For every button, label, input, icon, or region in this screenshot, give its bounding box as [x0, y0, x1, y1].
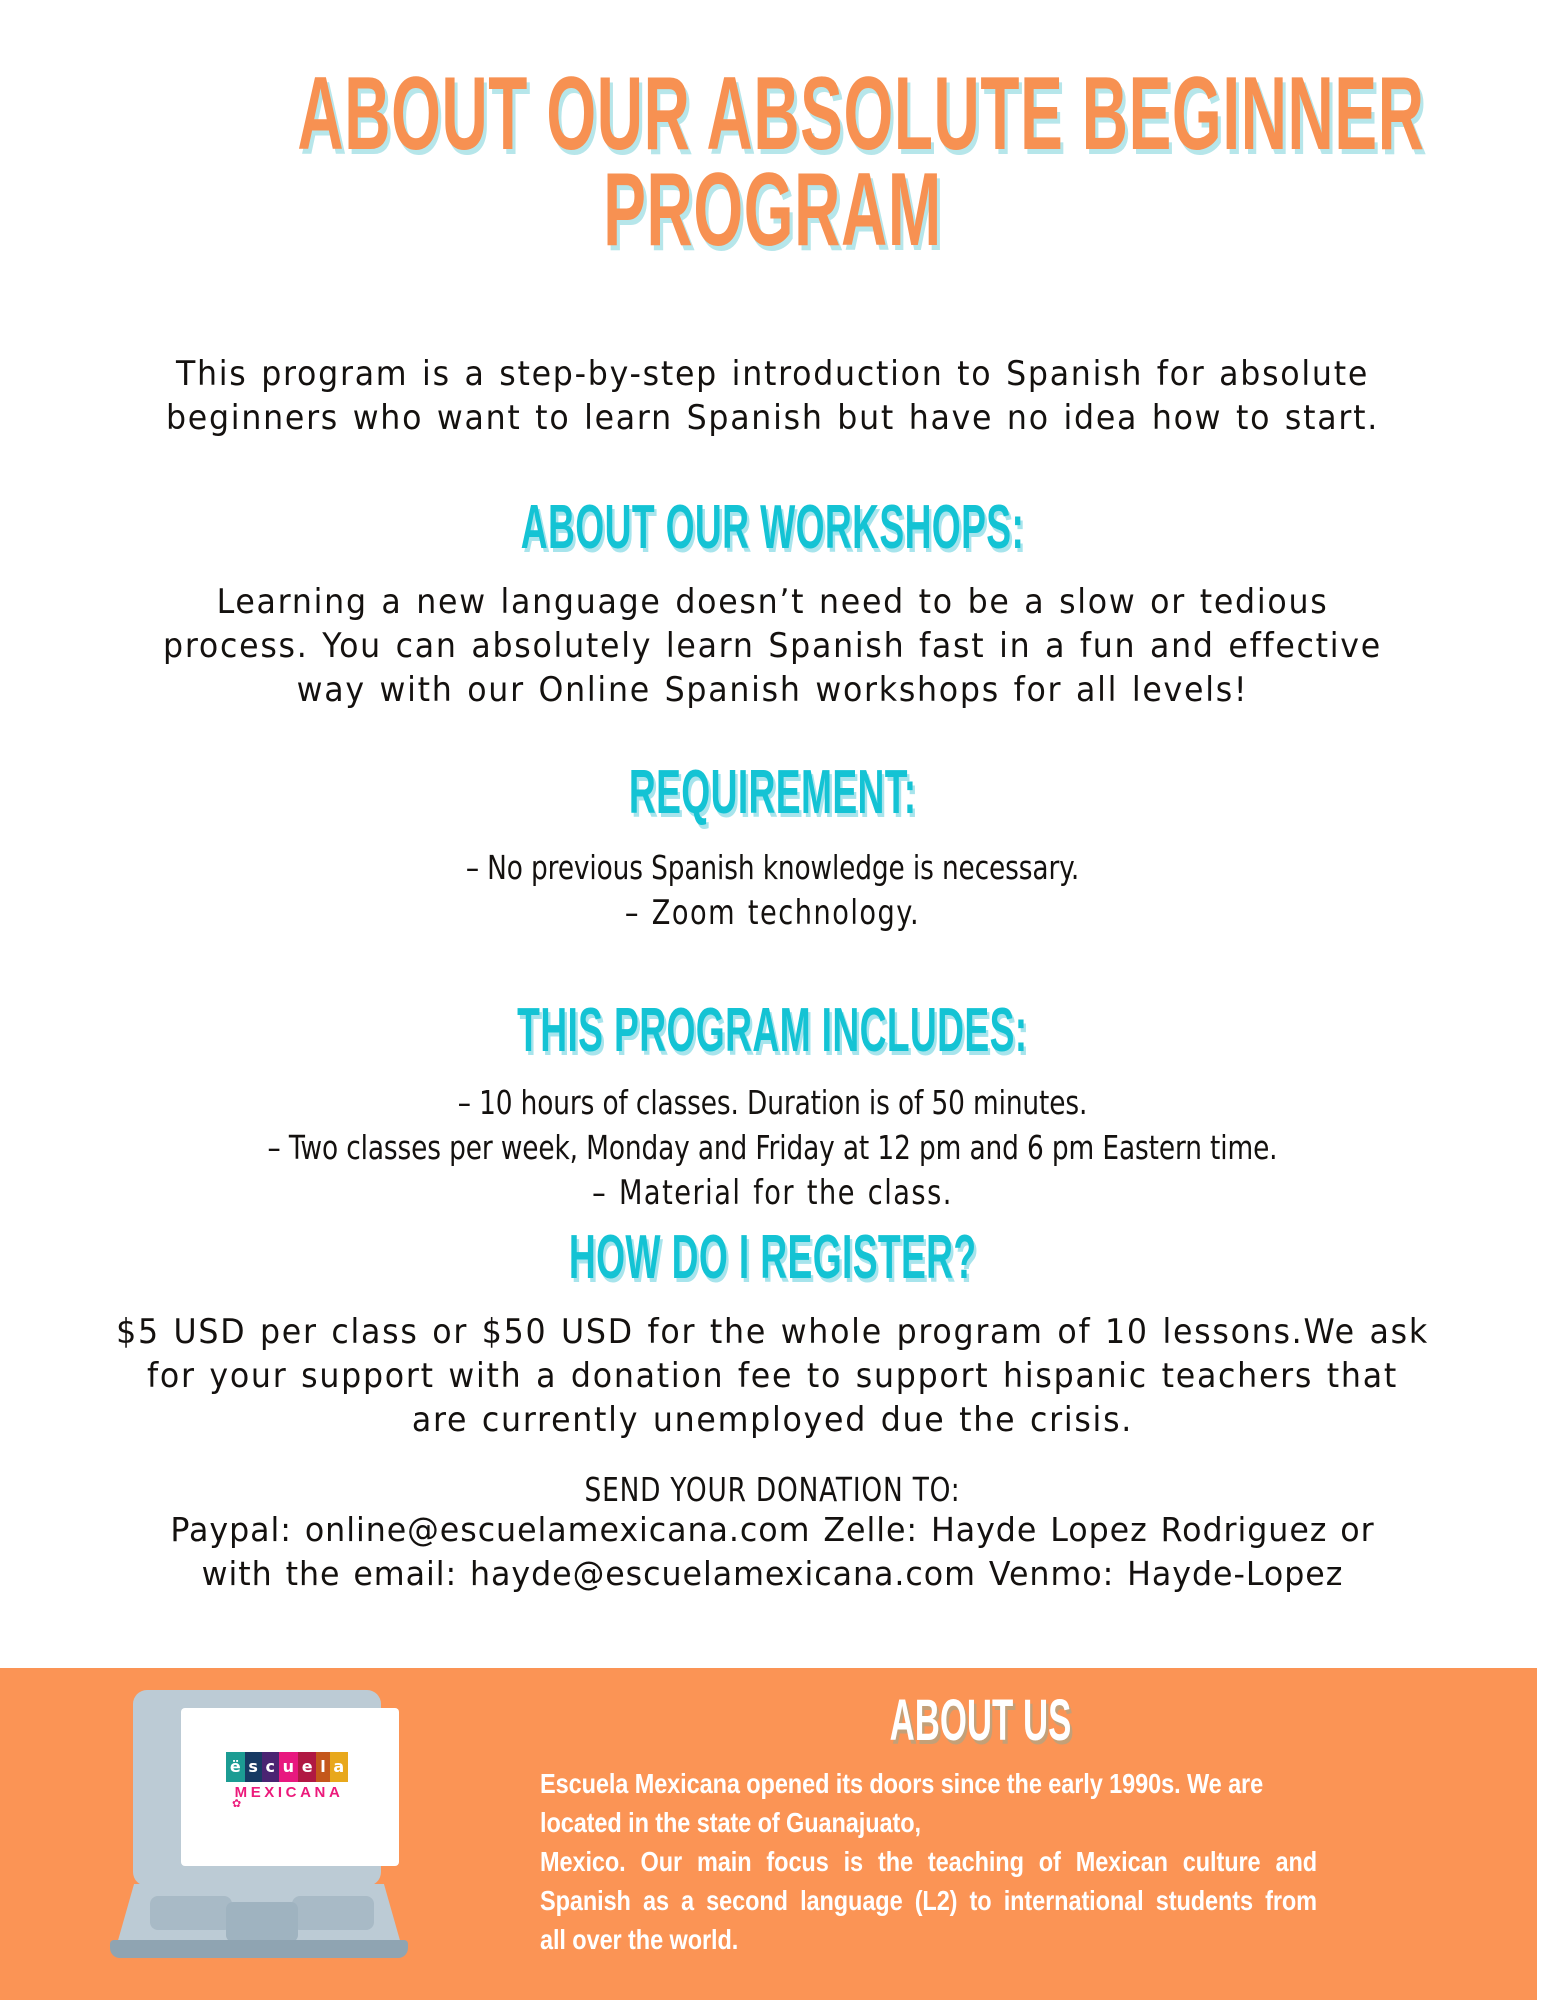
page-title: ABOUT OUR ABSOLUTE BEGINNER PROGRAM [0, 66, 1545, 258]
logo-tile-letter-0: ë [230, 1759, 241, 1775]
section-heading-register-text: HOW DO I REGISTER? [569, 1227, 977, 1289]
footer-line-2: located in the state of Guanajuato, [540, 1803, 1317, 1842]
logo-tile-letter-1: s [248, 1759, 258, 1775]
section-heading-register: HOW DO I REGISTER? [0, 1227, 1545, 1289]
includes-body: – 10 hours of classes. Duration is of 50… [155, 1080, 1391, 1216]
workshops-body: Learning a new language doesn’t need to … [54, 580, 1491, 712]
footer-line-4: Spanish as a second language (L2) to int… [540, 1881, 1317, 1920]
footer-line-3: Mexico. Our main focus is the teaching o… [540, 1842, 1317, 1881]
workshops-line-2: process. You can absolutely learn Spanis… [54, 624, 1491, 668]
laptop-illustration: ë s c u e [100, 1690, 420, 1980]
laptop-keyboard-left [150, 1896, 232, 1930]
laptop-front-edge [110, 1940, 408, 1958]
section-heading-requirement: REQUIREMENT: [0, 762, 1545, 824]
requirement-line-2: – Zoom technology. [155, 890, 1391, 936]
donation-details: Paypal: online@escuelamexicana.com Zelle… [31, 1508, 1514, 1596]
workshops-line-3: way with our Online Spanish workshops fo… [54, 668, 1491, 712]
logo-tile-letter-6: a [333, 1759, 344, 1775]
section-heading-workshops-text: ABOUT OUR WORKSHOPS: [521, 497, 1024, 559]
logo-letter-tiles: ë s c u e [226, 1752, 348, 1782]
logo-tile-4: e [298, 1752, 317, 1782]
register-line-1: $5 USD per class or $50 USD for the whol… [54, 1310, 1491, 1354]
donation-line-2: with the email: hayde@escuelamexicana.co… [31, 1552, 1514, 1596]
footer-heading-text: ABOUT US [889, 1692, 1071, 1750]
requirement-body: – No previous Spanish knowledge is neces… [155, 845, 1391, 936]
logo-tile-1: s [245, 1752, 262, 1782]
includes-line-3: – Material for the class. [155, 1170, 1391, 1216]
intro-line-2: beginners who want to learn Spanish but … [54, 396, 1491, 440]
workshops-line-1: Learning a new language doesn’t need to … [54, 580, 1491, 624]
footer-line-5: all over the world. [540, 1920, 1317, 1959]
donation-label-block: SEND YOUR DONATION TO: [155, 1467, 1391, 1512]
footer-body: Escuela Mexicana opened its doors since … [540, 1764, 1465, 1959]
section-heading-includes-text: THIS PROGRAM INCLUDES: [517, 1000, 1027, 1062]
logo-tile-letter-4: e [302, 1759, 313, 1775]
poster-page: ABOUT OUR ABSOLUTE BEGINNER PROGRAM This… [0, 0, 1545, 2000]
section-heading-includes: THIS PROGRAM INCLUDES: [0, 1000, 1545, 1062]
laptop-lid: ë s c u e [133, 1690, 381, 1886]
intro-line-1: This program is a step-by-step introduct… [54, 352, 1491, 396]
logo-tile-3: u [279, 1752, 298, 1782]
logo-tile-5: l [316, 1752, 329, 1782]
donation-line-1: Paypal: online@escuelamexicana.com Zelle… [31, 1508, 1514, 1552]
footer-heading: ABOUT US [430, 1692, 1530, 1750]
logo-tile-letter-3: u [283, 1759, 294, 1775]
section-heading-requirement-text: REQUIREMENT: [629, 762, 917, 824]
logo-tile-letter-2: c [266, 1759, 275, 1775]
register-body: $5 USD per class or $50 USD for the whol… [54, 1310, 1491, 1442]
page-title-line-2: PROGRAM [297, 162, 1247, 258]
laptop-trackpad [226, 1902, 298, 1942]
intro-paragraph: This program is a step-by-step introduct… [54, 352, 1491, 440]
logo-flower-icon: ✿ [232, 1798, 241, 1809]
includes-line-1: – 10 hours of classes. Duration is of 50… [155, 1080, 1391, 1125]
section-heading-workshops: ABOUT OUR WORKSHOPS: [0, 497, 1545, 559]
logo-tile-0: ë [226, 1752, 245, 1782]
escuela-mexicana-logo: ë s c u e [226, 1752, 348, 1800]
logo-tile-letter-5: l [320, 1759, 325, 1775]
register-line-3: are currently unemployed due the crisis. [54, 1398, 1491, 1442]
includes-line-2: – Two classes per week, Monday and Frida… [155, 1125, 1391, 1170]
laptop-keyboard-right [292, 1896, 374, 1930]
register-line-2: for your support with a donation fee to … [54, 1354, 1491, 1398]
laptop-screen: ë s c u e [181, 1708, 399, 1866]
requirement-line-1: – No previous Spanish knowledge is neces… [155, 845, 1391, 890]
logo-tile-2: c [262, 1752, 279, 1782]
footer-line-1: Escuela Mexicana opened its doors since … [540, 1764, 1317, 1803]
logo-wordmark: MEXICANA [226, 1785, 348, 1800]
donation-label: SEND YOUR DONATION TO: [155, 1467, 1391, 1512]
page-title-line-1: ABOUT OUR ABSOLUTE BEGINNER [297, 66, 1247, 162]
logo-tile-6: a [330, 1752, 348, 1782]
